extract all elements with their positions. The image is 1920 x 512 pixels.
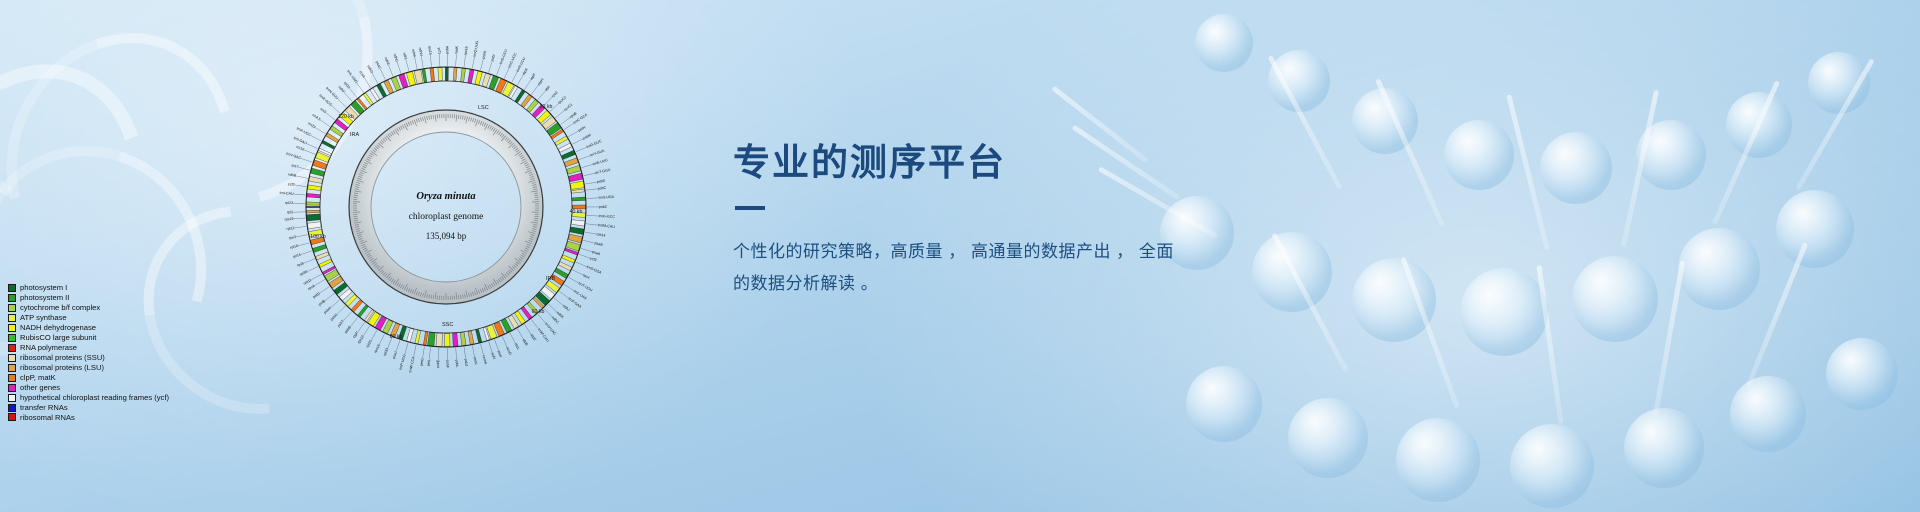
svg-text:rpl22: rpl22 — [286, 226, 294, 231]
legend-label: ribosomal proteins (SSU) — [20, 353, 105, 362]
helix-sphere — [1572, 256, 1658, 342]
legend-swatch-icon — [8, 294, 16, 302]
legend-item: ATP synthase — [8, 313, 169, 322]
helix-rung — [1653, 260, 1685, 416]
svg-text:atpB: atpB — [522, 338, 529, 347]
helix-rung — [1746, 242, 1808, 387]
svg-text:trnG-GCC: trnG-GCC — [599, 214, 616, 219]
svg-text:ndhA: ndhA — [411, 49, 417, 59]
legend-label: cytochrome b/f complex — [20, 303, 100, 312]
svg-text:rrn23: rrn23 — [307, 121, 316, 129]
legend-item: ribosomal proteins (SSU) — [8, 353, 169, 362]
svg-text:atpF: atpF — [529, 72, 537, 81]
svg-text:rpl20: rpl20 — [365, 339, 372, 348]
legend-swatch-icon — [8, 364, 16, 372]
helix-sphere — [1540, 132, 1612, 204]
svg-text:LSC: LSC — [478, 105, 489, 111]
svg-text:ccsA: ccsA — [358, 70, 366, 79]
svg-text:rbcL: rbcL — [514, 342, 521, 350]
helix-rung — [1795, 58, 1874, 190]
legend-label: RNA polymerase — [20, 343, 77, 352]
legend-label: ribosomal proteins (LSU) — [20, 363, 104, 372]
svg-text:trnS-GGA: trnS-GGA — [586, 265, 603, 275]
svg-text:rpoC1: rpoC1 — [563, 103, 573, 112]
legend-item: other genes — [8, 383, 169, 392]
dna-ribbon-left — [0, 0, 232, 244]
svg-text:psbZ: psbZ — [599, 205, 608, 209]
legend-label: photosystem II — [20, 293, 69, 302]
svg-text:rpl16: rpl16 — [290, 244, 299, 250]
legend-item: ribosomal RNAs — [8, 413, 169, 422]
svg-text:40 kb: 40 kb — [570, 209, 583, 215]
svg-text:135,094 bp: 135,094 bp — [426, 231, 467, 241]
helix-sphere — [1776, 190, 1854, 268]
page-title: 专业的测序平台 — [733, 140, 1353, 186]
helix-sphere — [1195, 14, 1253, 72]
svg-text:psbH: psbH — [323, 306, 332, 315]
svg-text:psbE: psbE — [436, 359, 440, 368]
svg-text:trnfM-CAU: trnfM-CAU — [598, 223, 616, 229]
svg-text:rps3: rps3 — [289, 235, 297, 240]
chloroplast-genome-map: 20 kb 40 kb 60 kb 80 kb 100 kb 120 kb LS… — [246, 8, 646, 406]
helix-rung — [1536, 265, 1563, 424]
svg-text:psbL: psbL — [455, 359, 460, 367]
legend-swatch-icon — [8, 404, 16, 412]
svg-text:trnW-CCA: trnW-CCA — [408, 356, 415, 373]
svg-text:atpE: atpE — [529, 333, 537, 342]
svg-text:chloroplast genome: chloroplast genome — [409, 212, 484, 222]
svg-text:trnD-GUC: trnD-GUC — [586, 139, 603, 149]
legend-label: photosystem I — [20, 283, 67, 292]
banner-description: 个性化的研究策略，高质量 ， 高通量的数据产出 ， 全面 的数据分析解读 。 — [733, 236, 1253, 300]
helix-rung — [1506, 94, 1550, 250]
svg-text:petG: petG — [419, 358, 424, 367]
svg-text:rpl2: rpl2 — [287, 210, 293, 214]
legend-swatch-icon — [8, 354, 16, 362]
svg-text:ndhJ: ndhJ — [562, 304, 571, 312]
svg-text:rrn4.5: rrn4.5 — [311, 113, 321, 122]
svg-text:psbK: psbK — [481, 50, 487, 60]
legend-item: hypothetical chloroplast reading frames … — [8, 393, 169, 402]
legend-label: RubisCO large subunit — [20, 333, 96, 342]
legend-swatch-icon — [8, 413, 16, 421]
title-divider — [735, 206, 765, 210]
svg-text:psaB: psaB — [594, 241, 603, 247]
svg-text:psbA: psbA — [445, 45, 449, 54]
svg-text:matK: matK — [454, 45, 459, 54]
svg-text:rpoC2: rpoC2 — [557, 95, 567, 105]
legend-swatch-icon — [8, 324, 16, 332]
legend-swatch-icon — [8, 314, 16, 322]
helix-rung — [1621, 90, 1659, 248]
helix-sphere — [1444, 120, 1514, 190]
legend-item: transfer RNAs — [8, 403, 169, 412]
legend-item: photosystem I — [8, 283, 169, 292]
svg-text:rrn5: rrn5 — [319, 107, 327, 114]
helix-rung — [1712, 80, 1780, 225]
svg-text:psaA: psaA — [592, 250, 602, 256]
sequencing-platform-banner: 20 kb 40 kb 60 kb 80 kb 100 kb 120 kb LS… — [0, 0, 1920, 512]
dna-ribbon-left — [0, 0, 276, 317]
svg-text:rps12: rps12 — [357, 335, 365, 345]
svg-text:cemA: cemA — [482, 355, 488, 365]
svg-text:rps2: rps2 — [551, 90, 559, 98]
svg-text:ycf3: ycf3 — [590, 256, 598, 262]
legend-swatch-icon — [8, 334, 16, 342]
svg-text:atpH: atpH — [537, 77, 545, 86]
svg-text:120 kb: 120 kb — [338, 114, 354, 120]
svg-text:rps4: rps4 — [582, 273, 590, 280]
svg-text:ndhE: ndhE — [384, 57, 391, 67]
legend-item: photosystem II — [8, 293, 169, 302]
svg-text:accD: accD — [505, 346, 512, 355]
legend-swatch-icon — [8, 374, 16, 382]
helix-sphere — [1624, 408, 1704, 488]
svg-text:SSC: SSC — [442, 322, 453, 328]
legend-swatch-icon — [8, 384, 16, 392]
legend-label: transfer RNAs — [20, 403, 68, 412]
legend-item: clpP, matK — [8, 373, 169, 382]
legend-label: hypothetical chloroplast reading frames … — [20, 393, 169, 402]
helix-sphere — [1186, 366, 1262, 442]
svg-text:psbD: psbD — [597, 179, 606, 184]
helix-sphere — [1730, 376, 1806, 452]
helix-rung — [1375, 78, 1445, 226]
svg-text:psbM: psbM — [582, 133, 592, 140]
helix-rung — [1400, 256, 1459, 408]
helix-sphere — [1726, 92, 1792, 158]
legend-item: ribosomal proteins (LSU) — [8, 363, 169, 372]
svg-text:petB: petB — [318, 299, 327, 307]
svg-text:rps18: rps18 — [373, 344, 381, 354]
helix-sphere — [1352, 88, 1418, 154]
svg-text:rps14: rps14 — [596, 232, 606, 238]
svg-text:rpl36: rpl36 — [299, 270, 308, 277]
svg-text:ndhD: ndhD — [366, 65, 374, 75]
legend-swatch-icon — [8, 284, 16, 292]
legend-label: ribosomal RNAs — [20, 413, 75, 422]
helix-sphere — [1826, 338, 1898, 410]
svg-text:rps16: rps16 — [463, 46, 468, 55]
svg-text:trnT-UGU: trnT-UGU — [578, 281, 594, 292]
svg-text:ndhG: ndhG — [392, 53, 399, 63]
svg-text:trnE-UUC: trnE-UUC — [592, 158, 608, 166]
svg-text:ndhH: ndhH — [418, 47, 423, 57]
svg-text:trnT-GGU: trnT-GGU — [595, 168, 611, 175]
legend-label: clpP, matK — [20, 373, 56, 382]
svg-text:trnS-GCU: trnS-GCU — [499, 48, 509, 65]
legend-swatch-icon — [8, 344, 16, 352]
svg-text:psbI: psbI — [490, 54, 496, 62]
svg-text:rpoA: rpoA — [307, 283, 316, 291]
svg-text:psaJ: psaJ — [392, 351, 398, 360]
svg-text:ndhF: ndhF — [337, 85, 346, 94]
svg-text:petN: petN — [578, 125, 587, 132]
svg-text:psbC: psbC — [598, 186, 607, 191]
svg-text:ycf1: ycf1 — [437, 47, 441, 54]
svg-text:trnV-GAC: trnV-GAC — [286, 152, 302, 161]
svg-text:trnS-UGA: trnS-UGA — [599, 195, 615, 200]
svg-text:psaC: psaC — [375, 60, 382, 70]
description-line-2: 的数据分析解读 。 — [733, 268, 1253, 300]
helix-sphere — [1352, 258, 1436, 342]
svg-text:trnM-CAU: trnM-CAU — [537, 328, 550, 343]
svg-text:trnI-CAU: trnI-CAU — [279, 191, 294, 196]
svg-text:ycf2: ycf2 — [288, 182, 295, 187]
svg-text:rrn16: rrn16 — [296, 145, 305, 152]
svg-text:psbB: psbB — [344, 325, 353, 334]
svg-text:rps8: rps8 — [296, 261, 304, 267]
legend-item: RubisCO large subunit — [8, 333, 169, 342]
svg-text:ndhI: ndhI — [402, 52, 408, 60]
svg-text:rps15: rps15 — [427, 46, 432, 55]
svg-text:trnG-UCC: trnG-UCC — [507, 52, 517, 69]
svg-text:petL: petL — [426, 359, 431, 366]
svg-text:IRA: IRA — [350, 132, 360, 138]
svg-text:trnP-UGG: trnP-UGG — [399, 354, 407, 371]
svg-text:trnQ-UUG: trnQ-UUG — [472, 40, 479, 57]
banner-copy: 专业的测序平台 个性化的研究策略，高质量 ， 高通量的数据产出 ， 全面 的数据… — [733, 140, 1353, 300]
svg-text:ycf4: ycf4 — [490, 352, 496, 359]
svg-text:rpl33: rpl33 — [383, 348, 390, 357]
svg-text:rps7: rps7 — [291, 163, 299, 169]
legend-item: cytochrome b/f complex — [8, 303, 169, 312]
helix-sphere — [1510, 424, 1594, 508]
svg-text:100 kb: 100 kb — [310, 234, 326, 240]
helix-sphere — [1396, 418, 1480, 502]
svg-text:psaI: psaI — [497, 350, 503, 358]
legend-item: NADH dehydrogenase — [8, 323, 169, 332]
helix-sphere — [1288, 398, 1368, 478]
svg-text:ndhB: ndhB — [288, 172, 298, 178]
svg-text:trnA-UGC: trnA-UGC — [296, 126, 312, 137]
svg-text:20 kb: 20 kb — [540, 104, 553, 110]
svg-text:trnI-GAU: trnI-GAU — [293, 136, 308, 146]
helix-sphere — [1808, 52, 1870, 114]
svg-text:rpl14: rpl14 — [292, 253, 301, 259]
legend-swatch-icon — [8, 394, 16, 402]
svg-text:trnL-UAA: trnL-UAA — [573, 289, 588, 301]
svg-text:atpA: atpA — [521, 67, 528, 76]
gene-category-legend: photosystem I photosystem II cytochrome … — [8, 283, 169, 423]
svg-text:psbJ: psbJ — [464, 358, 469, 366]
svg-text:ndhC: ndhC — [551, 316, 560, 325]
svg-text:trnY-GUA: trnY-GUA — [589, 148, 605, 157]
svg-text:atpI: atpI — [544, 85, 551, 92]
helix-sphere — [1636, 120, 1706, 190]
svg-text:petA: petA — [473, 357, 478, 366]
svg-text:rps19: rps19 — [284, 217, 293, 222]
helix-sphere — [1460, 268, 1548, 356]
svg-text:IRB: IRB — [546, 276, 556, 282]
description-line-1: 个性化的研究策略，高质量 ， 高通量的数据产出 ， 全面 — [733, 236, 1253, 268]
helix-sphere — [1268, 50, 1330, 112]
svg-text:Oryza minuta: Oryza minuta — [416, 191, 475, 202]
svg-text:rpl23: rpl23 — [285, 201, 293, 205]
legend-label: ATP synthase — [20, 313, 67, 322]
svg-text:trnR-ACG: trnR-ACG — [318, 94, 333, 108]
helix-sphere — [1678, 228, 1760, 310]
legend-label: other genes — [20, 383, 60, 392]
svg-text:petD: petD — [312, 291, 321, 299]
legend-item: RNA polymerase — [8, 343, 169, 352]
legend-swatch-icon — [8, 304, 16, 312]
svg-text:psbF: psbF — [445, 360, 449, 369]
legend-label: NADH dehydrogenase — [20, 323, 96, 332]
